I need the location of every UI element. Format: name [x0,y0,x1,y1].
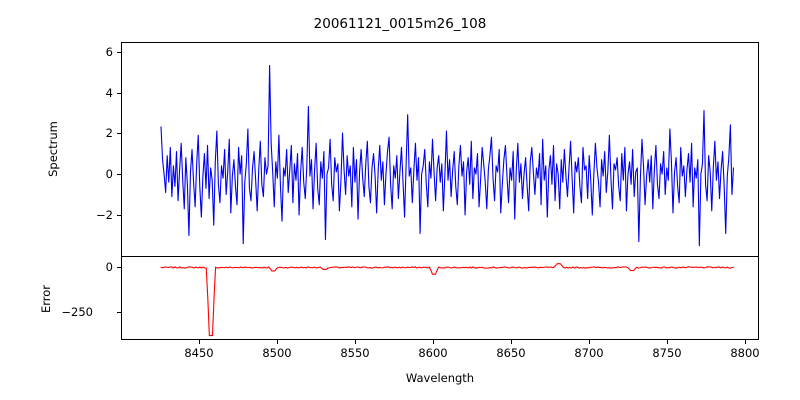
ytick-label-spectrum-4: 4 [53,86,113,100]
ytick-mark-spectrum-0 [117,174,121,175]
error-plot-area [121,256,759,340]
ytick-mark-error-neg250 [117,312,121,313]
ytick-label-spectrum-2: 2 [53,126,113,140]
figure-title: 20061121_0015m26_108 [0,16,800,32]
ytick-mark-spectrum-neg2 [117,215,121,216]
xtick-mark-8800 [745,340,746,344]
xtick-mark-8650 [511,340,512,344]
xtick-mark-8500 [277,340,278,344]
ytick-mark-spectrum-2 [117,133,121,134]
xtick-label-8500: 8500 [247,346,307,360]
xtick-label-8700: 8700 [559,346,619,360]
xtick-label-8750: 8750 [637,346,697,360]
xtick-label-8450: 8450 [169,346,229,360]
ytick-label-spectrum-6: 6 [53,45,113,59]
xtick-label-8650: 8650 [481,346,541,360]
x-axis-label: Wavelength [121,371,759,385]
error-line [161,264,733,336]
ytick-mark-spectrum-6 [117,52,121,53]
xtick-mark-8700 [589,340,590,344]
xtick-mark-8750 [667,340,668,344]
figure-canvas: 20061121_0015m26_108 Spectrum Error Wave… [0,0,800,400]
spectrum-series-svg [122,43,759,257]
error-series-svg [122,257,759,340]
ytick-label-spectrum-neg2: −2 [53,208,113,222]
ytick-mark-spectrum-4 [117,93,121,94]
ytick-label-error-neg250: −250 [33,305,93,319]
xtick-label-8600: 8600 [403,346,463,360]
ytick-mark-error-0 [117,267,121,268]
xtick-mark-8600 [433,340,434,344]
spectrum-plot-area [121,42,759,257]
y-axis-label-spectrum: Spectrum [46,89,60,209]
xtick-mark-8550 [355,340,356,344]
y-axis-label-error: Error [39,249,53,349]
xtick-label-8550: 8550 [325,346,385,360]
spectrum-line [161,66,733,246]
ytick-label-error-0: 0 [53,260,113,274]
xtick-mark-8450 [199,340,200,344]
xtick-label-8800: 8800 [715,346,775,360]
ytick-label-spectrum-0: 0 [53,167,113,181]
